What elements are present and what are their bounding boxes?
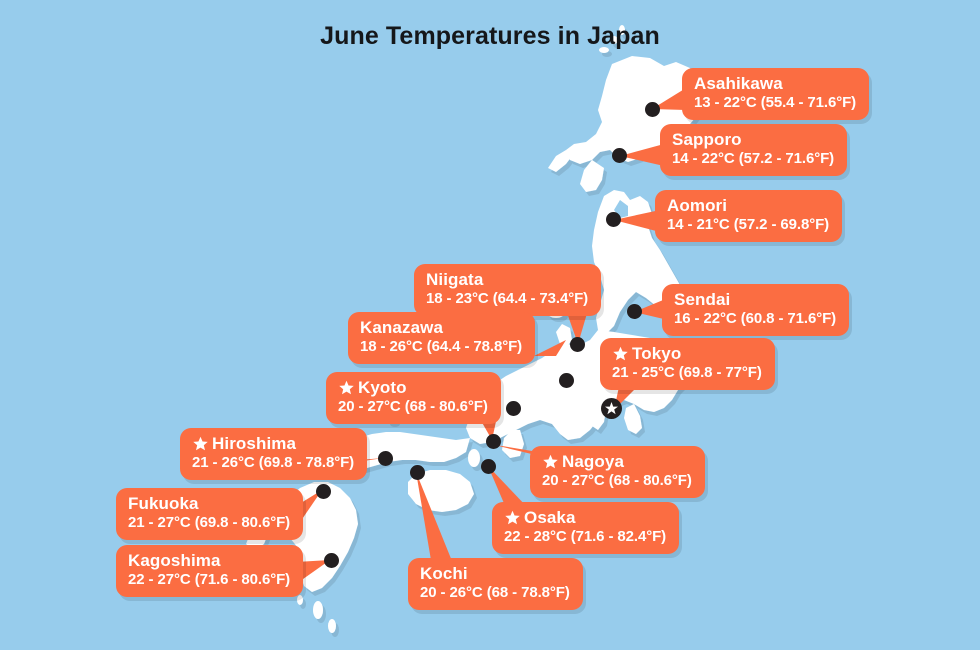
city-dot-sendai[interactable]	[627, 304, 642, 319]
callout-title-fukuoka: Fukuoka	[128, 494, 290, 513]
city-dot-kochi[interactable]	[410, 465, 425, 480]
callout-fukuoka[interactable]: Fukuoka 21 - 27°C (69.8 - 80.6°F)	[116, 488, 303, 540]
temp-sendai: 16 - 22°C (60.8 - 71.6°F)	[674, 311, 836, 328]
callout-kanazawa[interactable]: Kanazawa 18 - 26°C (64.4 - 78.8°F)	[348, 312, 535, 364]
city-label-kyoto: Kyoto	[358, 378, 407, 397]
city-dot-aomori[interactable]	[606, 212, 621, 227]
city-label-kochi: Kochi	[420, 564, 468, 583]
major-city-star-icon	[542, 453, 559, 470]
city-dot-osaka[interactable]	[481, 459, 496, 474]
temp-kagoshima: 22 - 27°C (71.6 - 80.6°F)	[128, 572, 290, 589]
callout-title-kochi: Kochi	[420, 564, 570, 583]
callout-title-kagoshima: Kagoshima	[128, 551, 290, 570]
callout-osaka[interactable]: Osaka 22 - 28°C (71.6 - 82.4°F)	[492, 502, 679, 554]
city-dot-kyoto[interactable]	[486, 434, 501, 449]
city-label-hiroshima: Hiroshima	[212, 434, 296, 453]
city-label-kagoshima: Kagoshima	[128, 551, 221, 570]
temp-tokyo: 21 - 25°C (69.8 - 77°F)	[612, 365, 762, 382]
temp-sapporo: 14 - 22°C (57.2 - 71.6°F)	[672, 151, 834, 168]
temp-asahikawa: 13 - 22°C (55.4 - 71.6°F)	[694, 95, 856, 112]
temp-hiroshima: 21 - 26°C (69.8 - 78.8°F)	[192, 455, 354, 472]
city-dot-kagoshima[interactable]	[324, 553, 339, 568]
callout-nagoya[interactable]: Nagoya 20 - 27°C (68 - 80.6°F)	[530, 446, 705, 498]
temp-nagoya: 20 - 27°C (68 - 80.6°F)	[542, 473, 692, 490]
callout-niigata[interactable]: Niigata 18 - 23°C (64.4 - 73.4°F)	[414, 264, 601, 316]
city-label-asahikawa: Asahikawa	[694, 74, 783, 93]
callout-kochi[interactable]: Kochi 20 - 26°C (68 - 78.8°F)	[408, 558, 583, 610]
city-label-kanazawa: Kanazawa	[360, 318, 443, 337]
tail-kochi	[416, 472, 454, 566]
city-label-nagoya: Nagoya	[562, 452, 624, 471]
map-infographic: June Temperatures in Japan	[0, 0, 980, 650]
major-city-star-icon	[504, 509, 521, 526]
temp-niigata: 18 - 23°C (64.4 - 73.4°F)	[426, 291, 588, 308]
callout-title-niigata: Niigata	[426, 270, 588, 289]
temp-fukuoka: 21 - 27°C (69.8 - 80.6°F)	[128, 515, 290, 532]
city-dot-kanazawa[interactable]	[559, 373, 574, 388]
callout-title-aomori: Aomori	[667, 196, 829, 215]
callout-hiroshima[interactable]: Hiroshima 21 - 26°C (69.8 - 78.8°F)	[180, 428, 367, 480]
temp-kanazawa: 18 - 26°C (64.4 - 78.8°F)	[360, 339, 522, 356]
city-label-niigata: Niigata	[426, 270, 483, 289]
city-label-osaka: Osaka	[524, 508, 576, 527]
city-dot-fukuoka[interactable]	[316, 484, 331, 499]
callout-kagoshima[interactable]: Kagoshima 22 - 27°C (71.6 - 80.6°F)	[116, 545, 303, 597]
city-dot-niigata[interactable]	[570, 337, 585, 352]
callout-kyoto[interactable]: Kyoto 20 - 27°C (68 - 80.6°F)	[326, 372, 501, 424]
tail-aomori	[614, 210, 660, 232]
major-city-star-icon	[612, 345, 629, 362]
callout-tokyo[interactable]: Tokyo 21 - 25°C (69.8 - 77°F)	[600, 338, 775, 390]
city-dot-hiroshima[interactable]	[378, 451, 393, 466]
tail-kanazawa	[534, 340, 566, 356]
city-dot-asahikawa[interactable]	[645, 102, 660, 117]
temp-aomori: 14 - 21°C (57.2 - 69.8°F)	[667, 217, 829, 234]
callout-sapporo[interactable]: Sapporo 14 - 22°C (57.2 - 71.6°F)	[660, 124, 847, 176]
temp-osaka: 22 - 28°C (71.6 - 82.4°F)	[504, 529, 666, 546]
city-label-sapporo: Sapporo	[672, 130, 742, 149]
callout-title-nagoya: Nagoya	[542, 452, 692, 471]
callout-asahikawa[interactable]: Asahikawa 13 - 22°C (55.4 - 71.6°F)	[682, 68, 869, 120]
callout-title-kyoto: Kyoto	[338, 378, 488, 397]
callout-title-tokyo: Tokyo	[612, 344, 762, 363]
city-label-fukuoka: Fukuoka	[128, 494, 199, 513]
temp-kyoto: 20 - 27°C (68 - 80.6°F)	[338, 399, 488, 416]
callout-aomori[interactable]: Aomori 14 - 21°C (57.2 - 69.8°F)	[655, 190, 842, 242]
temp-kochi: 20 - 26°C (68 - 78.8°F)	[420, 585, 570, 602]
city-label-tokyo: Tokyo	[632, 344, 681, 363]
callout-title-asahikawa: Asahikawa	[694, 74, 856, 93]
city-dot-nagoya[interactable]	[506, 401, 521, 416]
city-label-aomori: Aomori	[667, 196, 727, 215]
callout-title-osaka: Osaka	[504, 508, 666, 527]
callout-title-kanazawa: Kanazawa	[360, 318, 522, 337]
callout-title-sendai: Sendai	[674, 290, 836, 309]
city-label-sendai: Sendai	[674, 290, 730, 309]
major-city-star-icon	[338, 379, 355, 396]
major-city-star-icon	[192, 435, 209, 452]
city-dot-sapporo[interactable]	[612, 148, 627, 163]
callout-title-sapporo: Sapporo	[672, 130, 834, 149]
callout-sendai[interactable]: Sendai 16 - 22°C (60.8 - 71.6°F)	[662, 284, 849, 336]
callout-title-hiroshima: Hiroshima	[192, 434, 354, 453]
capital-star-marker-icon[interactable]	[601, 398, 622, 419]
